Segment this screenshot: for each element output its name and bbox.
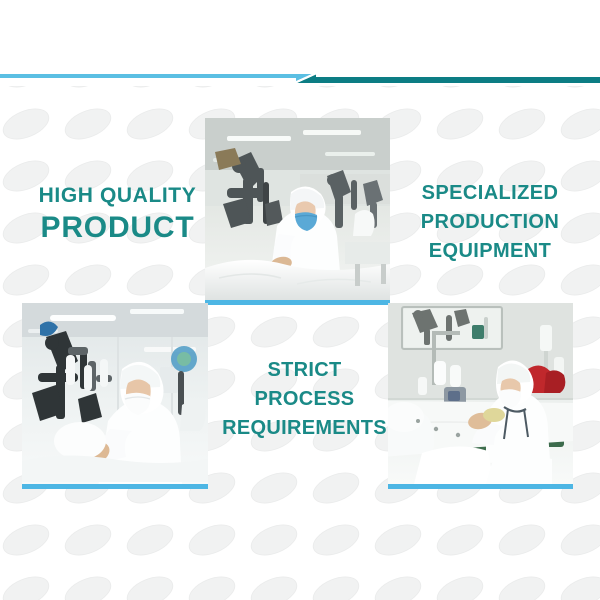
headline-line-process: PROCESS (212, 385, 397, 414)
headline-line-strict: STRICT (212, 356, 397, 385)
headline-line-equipment: EQUIPMENT (395, 237, 585, 266)
photo-bottom-left (22, 303, 208, 484)
headline-specialized-production-equipment: SPECIALIZED PRODUCTION EQUIPMENT (395, 179, 585, 266)
headline-high-quality-product: HIGH QUALITY PRODUCT (30, 183, 205, 246)
photo-card-bottom-right (388, 303, 573, 489)
headline-line-production: PRODUCTION (395, 208, 585, 237)
headline-line-high-quality: HIGH QUALITY (30, 183, 205, 209)
divider-right-segment (312, 77, 600, 83)
divider-left-segment (0, 74, 300, 78)
photo-card-top-center (205, 118, 390, 305)
promo-banner: HIGH QUALITY PRODUCT SPECIALIZED PRODUCT… (0, 0, 600, 600)
photo-card-bottom-left (22, 303, 208, 489)
headline-strict-process-requirements: STRICT PROCESS REQUIREMENTS (212, 356, 397, 443)
photo-bottom-right (388, 303, 573, 484)
photo-accent-bar-top-center (205, 300, 390, 305)
photo-top-center (205, 118, 390, 300)
photo-accent-bar-bottom-left (22, 484, 208, 489)
headline-line-product: PRODUCT (30, 210, 205, 247)
headline-line-specialized: SPECIALIZED (395, 179, 585, 208)
photo-accent-bar-bottom-right (388, 484, 573, 489)
headline-line-requirements: REQUIREMENTS (212, 414, 397, 443)
